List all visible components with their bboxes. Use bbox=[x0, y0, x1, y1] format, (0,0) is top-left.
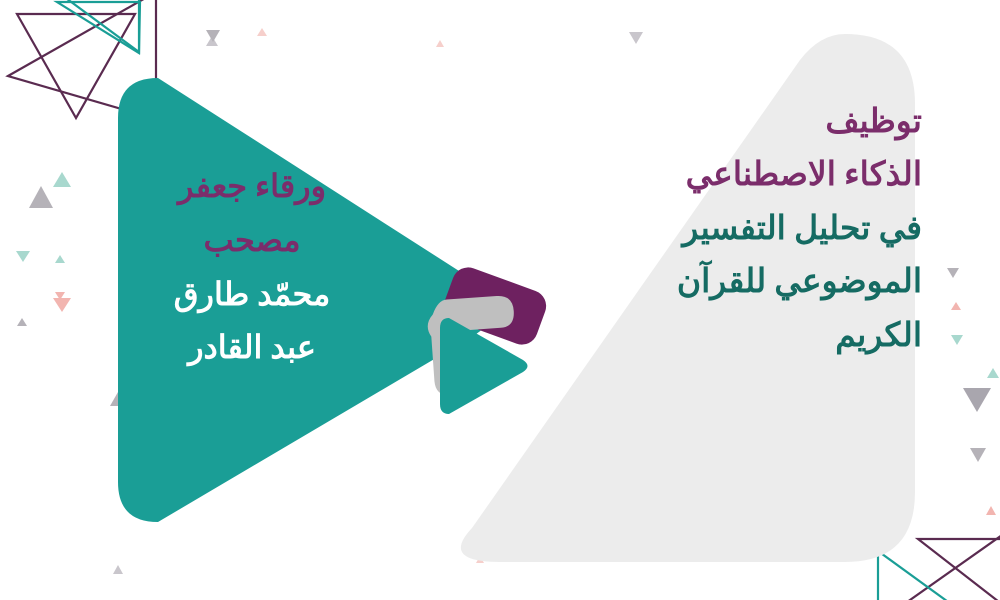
poster-title: توظيف الذكاء الاصطناعي في تحليل التفسير … bbox=[530, 96, 922, 363]
author-line-4: عبد القادر bbox=[118, 321, 386, 375]
title-line-1: توظيف bbox=[530, 96, 922, 149]
title-line-3: في تحليل التفسير bbox=[530, 203, 922, 256]
title-line-4: الموضوعي للقرآن bbox=[530, 256, 922, 309]
author-line-2: مصحب bbox=[118, 214, 386, 268]
author-line-3: محمّد طارق bbox=[118, 268, 386, 322]
author-line-1: ورقاء جعفر bbox=[118, 160, 386, 214]
title-line-2: الذكاء الاصطناعي bbox=[530, 149, 922, 202]
poster-authors: ورقاء جعفر مصحب محمّد طارق عبد القادر bbox=[118, 160, 386, 375]
title-line-5: الكريم bbox=[530, 310, 922, 363]
poster-canvas: توظيف الذكاء الاصطناعي في تحليل التفسير … bbox=[0, 0, 1000, 600]
